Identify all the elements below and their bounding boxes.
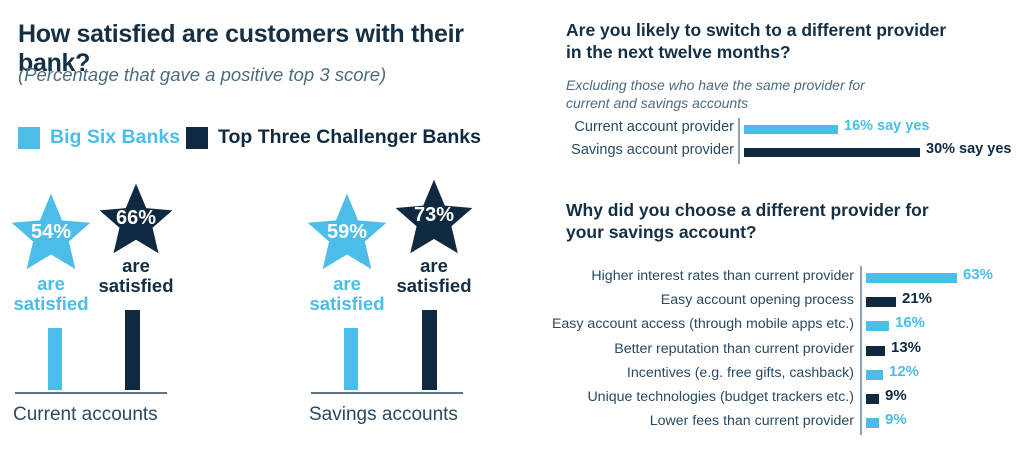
reason-bar: [866, 273, 957, 283]
switch-row-savings: Savings account provider 30% say yes: [548, 141, 1024, 164]
reason-row: Higher interest rates than current provi…: [548, 266, 1024, 290]
reason-value: 9%: [885, 411, 907, 428]
star-big-six-savings: 59%: [306, 192, 388, 270]
reason-bar: [866, 394, 879, 404]
reasons-chart: Higher interest rates than current provi…: [548, 266, 1024, 435]
satisfaction-panel: How satisfied are customers with their b…: [0, 0, 548, 458]
star-shape-blue: [306, 192, 388, 270]
axis-label-current: Current accounts: [13, 404, 158, 426]
axis-line-savings: [311, 392, 463, 394]
star-caption-big-six-current: are satisfied: [4, 274, 98, 314]
reason-axis-divider: [860, 290, 862, 314]
reason-axis-divider: [860, 387, 862, 411]
reason-value: 63%: [963, 266, 993, 283]
legend-swatch-navy: [186, 127, 208, 149]
star-caption-line1: are: [88, 256, 184, 276]
legend-swatch-blue: [18, 127, 40, 149]
star-shape-navy: [98, 182, 174, 254]
reason-bar: [866, 297, 896, 307]
reason-axis-divider: [860, 339, 862, 363]
reasons-question-title: Why did you choose a different provider …: [566, 200, 966, 244]
switch-row-current: Current account provider 16% say yes: [548, 118, 1024, 141]
reason-bar: [866, 418, 879, 428]
legend-label-big-six: Big Six Banks: [50, 126, 180, 149]
reason-row: Incentives (e.g. free gifts, cashback) 1…: [548, 363, 1024, 387]
star-caption-line2: satisfied: [88, 276, 184, 296]
reason-bar: [866, 321, 889, 331]
star-challenger-savings: 73%: [394, 178, 474, 254]
reason-label: Higher interest rates than current provi…: [548, 268, 854, 284]
reason-value: 21%: [902, 290, 932, 307]
reason-row: Easy account opening process 21%: [548, 290, 1024, 314]
reason-axis-divider: [860, 266, 862, 290]
vbar-big-six-current: [48, 328, 62, 390]
switch-value-savings: 30% say yes: [926, 141, 1011, 157]
infographic-page: How satisfied are customers with their b…: [0, 0, 1024, 458]
reason-value: 16%: [895, 314, 925, 331]
switch-bar-current: [744, 125, 838, 134]
reason-label: Easy account access (through mobile apps…: [548, 316, 854, 332]
axis-label-savings: Savings accounts: [309, 404, 458, 426]
switch-value-current: 16% say yes: [844, 118, 929, 134]
reason-value: 13%: [891, 339, 921, 356]
vbar-challenger-current: [125, 310, 140, 390]
star-shape-blue: [10, 192, 92, 270]
switch-label-current: Current account provider: [534, 119, 734, 135]
star-caption-line2: satisfied: [386, 276, 482, 296]
star-caption-challenger-savings: are satisfied: [386, 256, 482, 296]
vbar-big-six-savings: [344, 328, 358, 390]
reason-axis-divider: [860, 363, 862, 387]
switch-bar-savings: [744, 148, 920, 157]
reason-label: Lower fees than current provider: [548, 413, 854, 429]
star-big-six-current: 54%: [10, 192, 92, 270]
switch-label-savings: Savings account provider: [534, 142, 734, 158]
axis-line-current: [15, 392, 167, 394]
legend-item-challenger: Top Three Challenger Banks: [186, 126, 481, 149]
legend-item-big-six: Big Six Banks: [18, 126, 180, 149]
reason-row: Lower fees than current provider 9%: [548, 411, 1024, 435]
reason-bar: [866, 370, 883, 380]
reason-label: Unique technologies (budget trackers etc…: [548, 389, 854, 405]
reason-axis-divider: [860, 314, 862, 338]
reason-row: Better reputation than current provider …: [548, 339, 1024, 363]
switch-chart: Current account provider 16% say yes Sav…: [548, 118, 1024, 164]
reason-bar: [866, 346, 885, 356]
reason-value: 12%: [889, 363, 919, 380]
switch-axis-divider: [738, 141, 740, 164]
star-caption-line1: are: [386, 256, 482, 276]
star-caption-line1: are: [4, 274, 98, 294]
page-subtitle: (Percentage that gave a positive top 3 s…: [18, 64, 538, 86]
survey-panel: Are you likely to switch to a different …: [548, 0, 1024, 458]
reason-row: Easy account access (through mobile apps…: [548, 314, 1024, 338]
legend-label-challenger: Top Three Challenger Banks: [218, 126, 481, 149]
switch-question-note: Excluding those who have the same provid…: [566, 76, 896, 112]
star-caption-big-six-savings: are satisfied: [300, 274, 394, 314]
star-caption-line1: are: [300, 274, 394, 294]
reason-label: Better reputation than current provider: [548, 341, 854, 357]
star-shape-navy: [394, 178, 474, 254]
reason-label: Easy account opening process: [548, 292, 854, 308]
switch-question-title: Are you likely to switch to a different …: [566, 20, 966, 64]
reason-axis-divider: [860, 411, 862, 435]
star-caption-challenger-current: are satisfied: [88, 256, 184, 296]
reason-value: 9%: [885, 387, 907, 404]
star-caption-line2: satisfied: [4, 294, 98, 314]
star-challenger-current: 66%: [98, 182, 174, 254]
reason-row: Unique technologies (budget trackers etc…: [548, 387, 1024, 411]
switch-axis-divider: [738, 118, 740, 141]
vbar-challenger-savings: [422, 310, 437, 390]
reason-label: Incentives (e.g. free gifts, cashback): [548, 365, 854, 381]
star-caption-line2: satisfied: [300, 294, 394, 314]
